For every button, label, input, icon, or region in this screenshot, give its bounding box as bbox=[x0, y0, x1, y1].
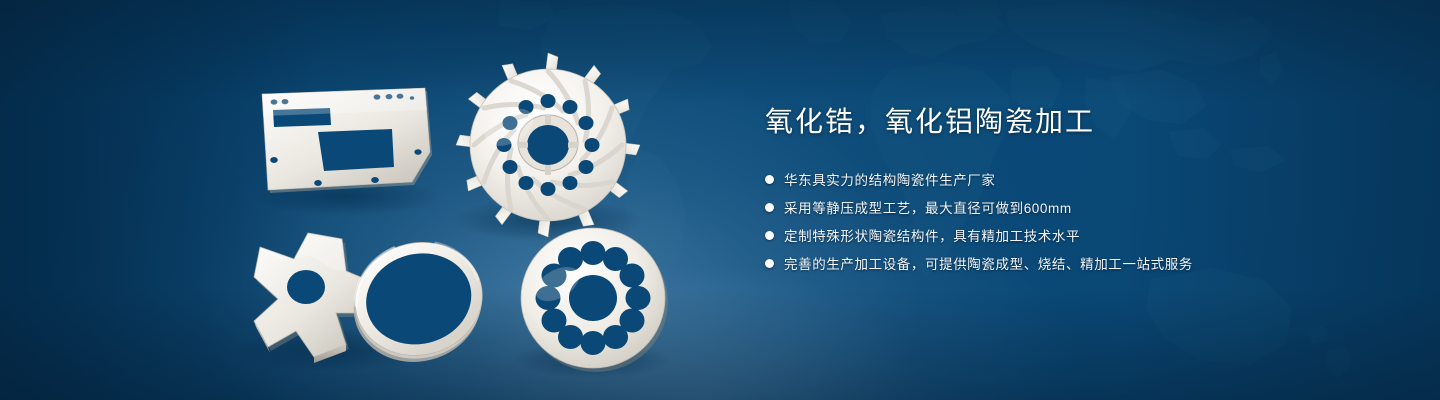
feature-text: 采用等静压成型工艺，最大直径可做到600mm bbox=[784, 197, 1072, 217]
list-item: 采用等静压成型工艺，最大直径可做到600mm bbox=[765, 197, 1385, 217]
bullet-dot-icon bbox=[765, 231, 774, 240]
bullet-dot-icon bbox=[765, 259, 774, 268]
list-item: 完善的生产加工设备，可提供陶瓷成型、烧结、精加工一站式服务 bbox=[765, 253, 1385, 273]
bullet-dot-icon bbox=[765, 175, 774, 184]
feature-text: 定制特殊形状陶瓷结构件，具有精加工技术水平 bbox=[784, 225, 1080, 245]
page-title: 氧化锆，氧化铝陶瓷加工 bbox=[765, 104, 1385, 139]
feature-list: 华东具实力的结构陶瓷件生产厂家 采用等静压成型工艺，最大直径可做到600mm 定… bbox=[765, 169, 1385, 273]
ceramic-mounting-plate-shape bbox=[262, 88, 432, 193]
feature-text: 华东具实力的结构陶瓷件生产厂家 bbox=[784, 169, 996, 189]
list-item: 定制特殊形状陶瓷结构件，具有精加工技术水平 bbox=[765, 225, 1385, 245]
copy-block: 氧化锆，氧化铝陶瓷加工 华东具实力的结构陶瓷件生产厂家 采用等静压成型工艺，最大… bbox=[765, 104, 1385, 281]
feature-text: 完善的生产加工设备，可提供陶瓷成型、烧结、精加工一站式服务 bbox=[784, 253, 1193, 273]
product-photo-group bbox=[0, 0, 720, 400]
list-item: 华东具实力的结构陶瓷件生产厂家 bbox=[765, 169, 1385, 189]
bullet-dot-icon bbox=[765, 203, 774, 212]
product-banner: 氧化锆，氧化铝陶瓷加工 华东具实力的结构陶瓷件生产厂家 采用等静压成型工艺，最大… bbox=[0, 0, 1440, 400]
